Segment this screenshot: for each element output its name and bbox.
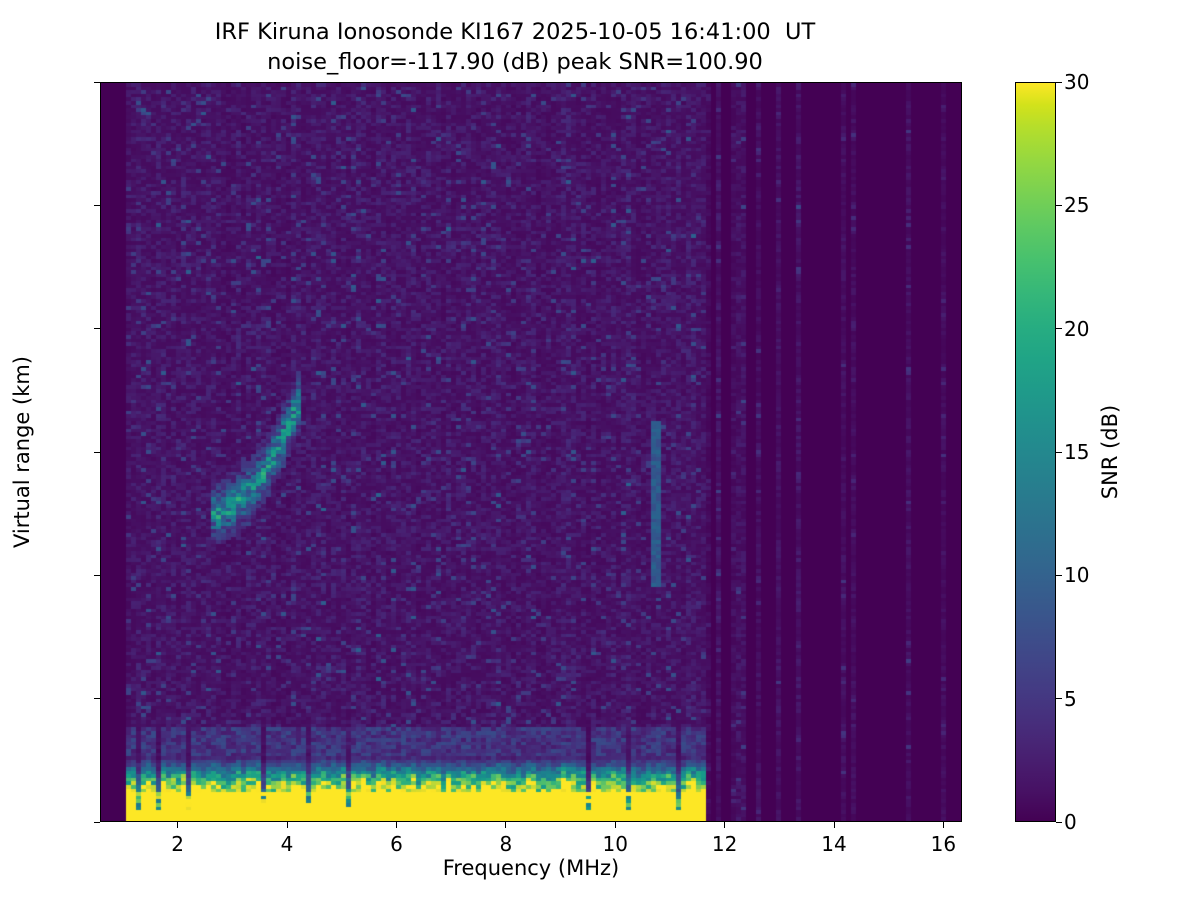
colorbar-tick-label: 30 [1064,70,1089,94]
colorbar-tick-label: 20 [1064,317,1089,341]
x-tick-mark [615,822,616,828]
colorbar-tick-mark [1056,328,1062,329]
x-tick-label: 4 [281,832,294,856]
x-tick-label: 12 [712,832,737,856]
colorbar-tick-mark [1056,82,1062,83]
x-tick-mark [724,822,725,828]
figure-title: IRF Kiruna Ionosonde KI167 2025-10-05 16… [0,18,1030,77]
colorbar-tick-label: 15 [1064,440,1089,464]
colorbar-tick-label: 0 [1064,810,1077,834]
colorbar-tick-label: 5 [1064,687,1077,711]
y-tick-mark [94,822,100,823]
y-tick-mark [94,82,100,83]
title-line-2: noise_floor=-117.90 (dB) peak SNR=100.90 [0,48,1030,78]
x-axis-label: Frequency (MHz) [100,856,962,880]
x-tick-label: 14 [821,832,846,856]
x-tick-mark [834,822,835,828]
ionogram-heatmap [101,83,961,821]
x-tick-mark [396,822,397,828]
x-tick-mark [505,822,506,828]
y-axis-label: Virtual range (km) [10,262,34,642]
y-tick-mark [94,328,100,329]
colorbar-tick-mark [1056,575,1062,576]
y-tick-mark [94,452,100,453]
x-tick-mark [943,822,944,828]
y-tick-mark [94,205,100,206]
colorbar-tick-mark [1056,205,1062,206]
x-tick-label: 6 [390,832,403,856]
x-tick-mark [177,822,178,828]
title-line-1: IRF Kiruna Ionosonde KI167 2025-10-05 16… [0,18,1030,48]
colorbar-tick-mark [1056,698,1062,699]
colorbar-tick-mark [1056,822,1062,823]
ionogram-plot-area [100,82,962,822]
x-tick-label: 16 [931,832,956,856]
ionogram-figure: IRF Kiruna Ionosonde KI167 2025-10-05 16… [0,0,1200,900]
y-tick-mark [94,575,100,576]
colorbar-tick-label: 10 [1064,563,1089,587]
x-tick-label: 10 [602,832,627,856]
colorbar-gradient [1015,82,1056,822]
x-tick-label: 2 [171,832,184,856]
x-tick-label: 8 [499,832,512,856]
colorbar-label: SNR (dB) [1098,302,1122,602]
y-tick-mark [94,698,100,699]
colorbar-tick-label: 25 [1064,193,1089,217]
x-tick-mark [287,822,288,828]
colorbar-tick-mark [1056,452,1062,453]
